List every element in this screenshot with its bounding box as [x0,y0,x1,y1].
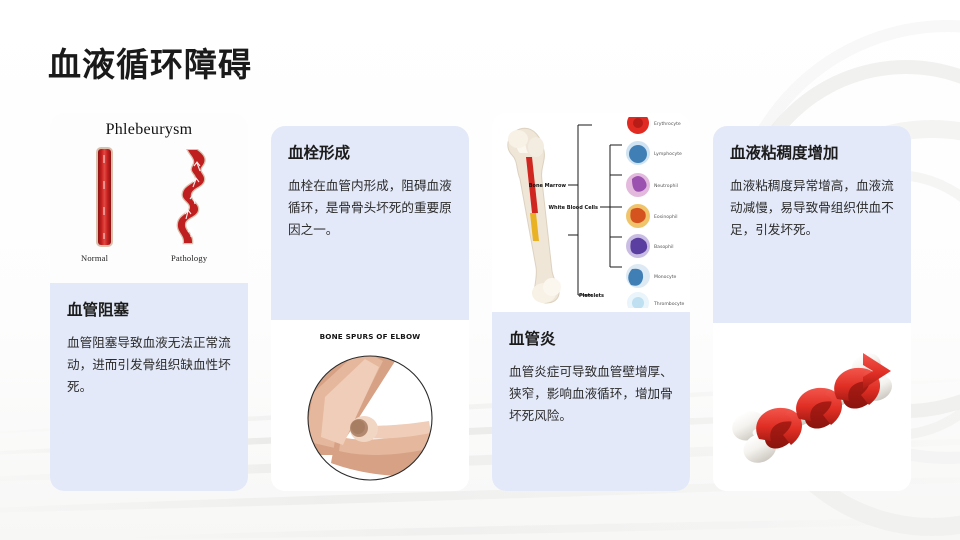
page-title: 血液循环障碍 [48,38,252,86]
svg-text:Eosinophil: Eosinophil [654,214,678,220]
card-heading: 血液粘稠度增加 [730,144,894,163]
bone-marrow-blood-cells-diagram: Bone Marrow White Blood Cells Platelets … [492,113,690,312]
normal-vein-icon [98,149,111,245]
phlebeurysm-heading: Phlebeurysm [50,113,248,139]
card-text-panel: 血管炎 血管炎症可导致血管壁增厚、狭窄，影响血液循环，增加骨坏死风险。 [492,312,690,491]
card-description: 血管阻塞导致血液无法正常流动，进而引发骨组织缺血性坏死。 [67,333,231,398]
bone-spiral-arrow-illustration [713,323,911,491]
elbow-bone-spurs-illustration: BONE SPURS OF ELBOW [271,320,469,491]
svg-text:White Blood Cells: White Blood Cells [549,205,599,211]
card-blood-viscosity[interactable]: 血液粘稠度增加 血液粘稠度异常增高，血液流动减慢，易导致骨组织供血不足，引发坏死… [713,126,911,491]
svg-text:Bone Marrow: Bone Marrow [529,183,567,189]
card-heading: 血管阻塞 [67,301,231,320]
svg-text:Platelets: Platelets [579,293,604,299]
card-description: 血液粘稠度异常增高，血液流动减慢，易导致骨组织供血不足，引发坏死。 [730,176,894,241]
elbow-image [271,345,469,491]
card-description: 血栓在血管内形成，阻碍血液循环，是骨骨头坏死的重要原因之一。 [288,176,452,241]
svg-text:Basophil: Basophil [654,244,674,250]
varicose-vein-icon [171,149,217,245]
phlebeurysm-diagram: Phlebeurysm [50,113,248,283]
card-heading: 血栓形成 [288,144,452,163]
card-vasculitis[interactable]: Bone Marrow White Blood Cells Platelets … [492,113,690,491]
vessel-pathology-column [171,149,217,245]
svg-text:Monocyte: Monocyte [654,274,677,280]
card-description: 血管炎症可导致血管壁增厚、狭窄，影响血液循环，增加骨坏死风险。 [509,362,673,427]
svg-text:Neutrophil: Neutrophil [654,183,678,189]
card-thrombosis[interactable]: BONE SPURS OF ELBOW [271,126,469,491]
elbow-illustration-heading: BONE SPURS OF ELBOW [271,320,469,341]
svg-text:Thrombocyte: Thrombocyte [653,301,685,307]
card-text-panel: 血液粘稠度增加 血液粘稠度异常增高，血液流动减慢，易导致骨组织供血不足，引发坏死… [713,126,911,323]
vessel-normal-column [81,149,127,245]
card-vessel-occlusion[interactable]: Phlebeurysm [50,113,248,491]
vessel-pathology-label: Pathology [171,253,217,263]
card-heading: 血管炎 [509,330,673,349]
svg-text:Lymphocyte: Lymphocyte [654,151,682,157]
svg-text:Erythrocyte: Erythrocyte [654,121,681,127]
card-text-panel: 血管阻塞 血管阻塞导致血液无法正常流动，进而引发骨组织缺血性坏死。 [50,283,248,491]
vessel-comparison [50,149,248,245]
vessel-normal-label: Normal [81,253,127,263]
card-grid: Phlebeurysm [50,113,916,491]
background-sweep-line [120,515,960,540]
card-text-panel: 血栓形成 血栓在血管内形成，阻碍血液循环，是骨骨头坏死的重要原因之一。 [271,126,469,320]
